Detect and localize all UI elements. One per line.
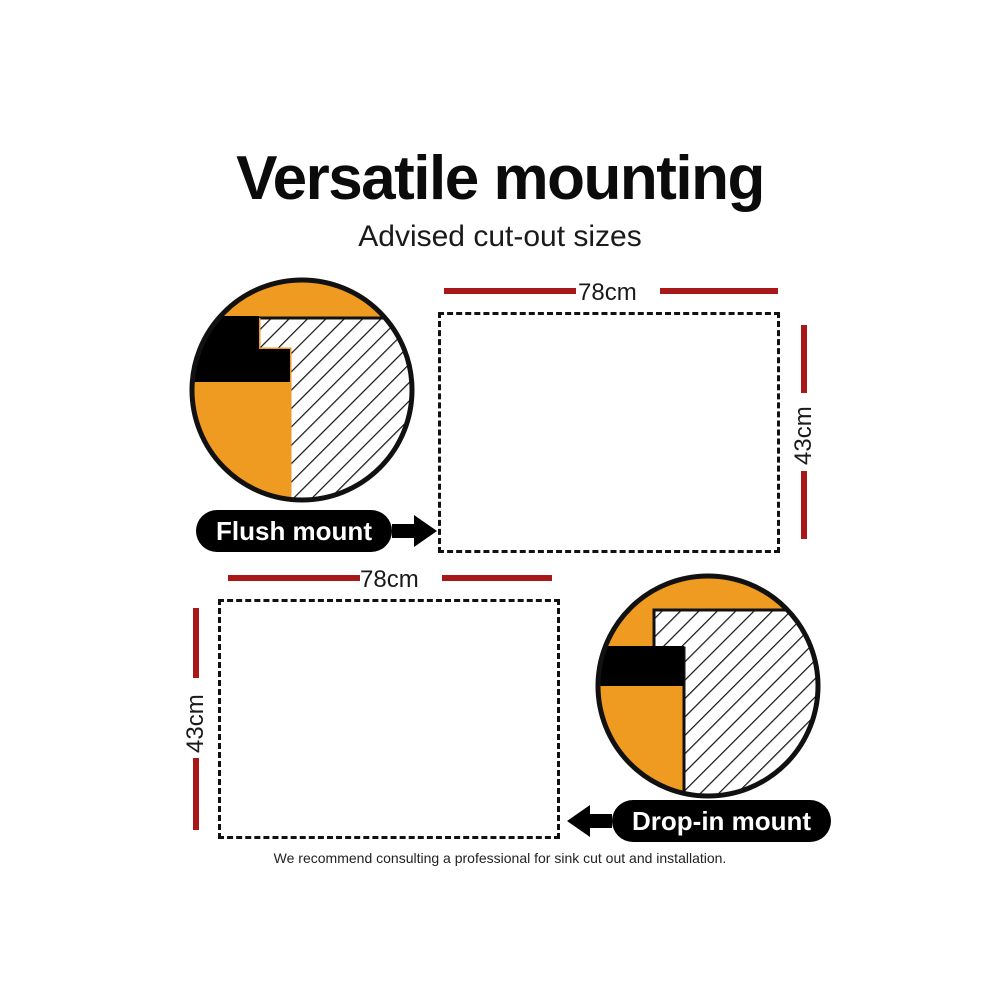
- dimension-line-bottom-height-lower: [193, 758, 199, 830]
- dimension-line-top-height-lower: [801, 471, 807, 539]
- page-subtitle: Advised cut-out sizes: [0, 222, 1000, 252]
- footer-note: We recommend consulting a professional f…: [0, 850, 1000, 866]
- dimension-label-top-height: 43cm: [792, 407, 816, 465]
- dimension-line-top-width-right: [660, 288, 778, 294]
- dimension-label-bottom-height: 43cm: [184, 695, 208, 753]
- cutout-rectangle-dropin: [218, 599, 560, 839]
- flush-mount-label[interactable]: Flush mount: [196, 510, 438, 552]
- flush-mount-diagram: [186, 274, 418, 506]
- dimension-line-bottom-height-upper: [193, 608, 199, 678]
- arrow-left-icon: [566, 804, 612, 838]
- drop-in-mount-diagram: [592, 570, 824, 802]
- dimension-line-bottom-width-left: [228, 575, 360, 581]
- drop-in-mount-text: Drop-in mount: [632, 808, 811, 834]
- page-title: Versatile mounting: [0, 148, 1000, 210]
- flush-mount-text: Flush mount: [216, 518, 372, 544]
- cutout-rectangle-flush: [438, 312, 780, 553]
- dimension-label-top-width: 78cm: [578, 281, 637, 305]
- dimension-label-bottom-width: 78cm: [360, 568, 419, 592]
- dimension-line-top-width-left: [444, 288, 576, 294]
- dimension-line-top-height-upper: [801, 325, 807, 393]
- dimension-line-bottom-width-right: [442, 575, 552, 581]
- drop-in-mount-pill[interactable]: Drop-in mount: [612, 800, 831, 842]
- infographic-page: Versatile mounting Advised cut-out sizes…: [0, 0, 1000, 1000]
- drop-in-mount-label[interactable]: Drop-in mount: [566, 800, 831, 842]
- flush-mount-pill[interactable]: Flush mount: [196, 510, 392, 552]
- arrow-right-icon: [392, 514, 438, 548]
- heading-block: Versatile mounting Advised cut-out sizes: [0, 148, 1000, 252]
